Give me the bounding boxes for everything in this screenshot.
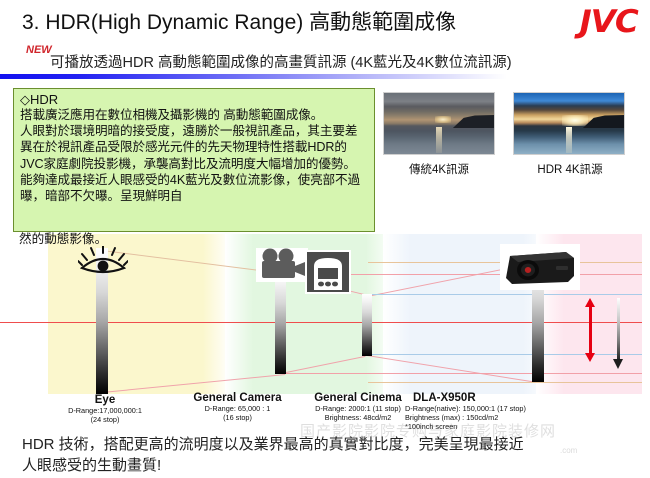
sun-highlight xyxy=(562,115,588,126)
cinema-screen-icon xyxy=(305,250,351,294)
water-glint xyxy=(436,127,442,153)
label-camera-detail-1: (16 stop) xyxy=(170,414,305,423)
slide-root: 3. HDR(High Dynamic Range) 高動態範圍成像 JVC N… xyxy=(0,0,650,478)
label-general-camera: General Camera D-Range: 65,000 : 1 (16 s… xyxy=(170,392,305,423)
footer-line-2: 人眼感受的生動畫質! xyxy=(22,455,622,476)
dynamic-range-diagram xyxy=(0,234,650,394)
reference-line xyxy=(280,373,642,374)
sample-caption-traditional: 傳統4K訊源 xyxy=(369,161,509,177)
sample-image-traditional xyxy=(383,92,495,155)
label-eye-detail-1: (24 stop) xyxy=(40,416,170,425)
label-dla-detail-2: *100inch screen xyxy=(405,423,565,432)
video-camera-icon xyxy=(256,248,308,282)
page-title: 3. HDR(High Dynamic Range) 高動態範圍成像 xyxy=(22,6,456,36)
footer-line-1: HDR 技術，搭配更高的流明度以及業界最高的真實對比度，完美呈現最接近 xyxy=(22,434,622,455)
sun-highlight xyxy=(435,116,451,123)
hdr-description-box: ◇HDR 搭載廣泛應用在數位相機及攝影機的 高動態範圍成像。 人眼對於環境明暗的… xyxy=(13,88,375,232)
label-eye: Eye D-Range:17,000,000:1 (24 stop) xyxy=(40,394,170,425)
page-subtitle: 可播放透過HDR 高動態範圍成像的高畫質訊源 (4K藍光及4K數位流訊源) xyxy=(50,51,512,72)
reference-line xyxy=(368,382,642,383)
panel-fade xyxy=(383,234,411,394)
new-badge: NEW xyxy=(26,44,52,56)
jvc-logo: JVC xyxy=(579,4,637,40)
sample-image-hdr xyxy=(513,92,625,155)
footer-text: HDR 技術，搭配更高的流明度以及業界最高的真實對比度，完美呈現最接近 人眼感受… xyxy=(22,434,622,476)
reference-line xyxy=(368,354,642,355)
red-dynamic-range-arrow xyxy=(589,306,592,354)
water-glint xyxy=(566,127,572,153)
hdr-overflow-line: 然的動態影像。 xyxy=(19,231,107,247)
hdr-heading: ◇HDR xyxy=(20,92,368,107)
range-bar-cinema xyxy=(362,294,372,356)
panel-fade xyxy=(225,234,253,394)
eye-icon xyxy=(78,246,128,276)
range-bar-camera xyxy=(275,272,286,374)
hdr-paragraph-1: 搭載廣泛應用在數位相機及攝影機的 高動態範圍成像。 xyxy=(20,107,368,123)
projector-icon xyxy=(500,244,580,290)
hdr-paragraph-2: 人眼對於環境明暗的接受度，遠勝於一般視訊產品，其主要差異在於視訊產品受限於感光元… xyxy=(20,123,368,204)
reference-line xyxy=(368,294,642,295)
panel-eye xyxy=(48,234,210,394)
gray-gradient-arrow xyxy=(617,298,620,360)
header-divider-bar xyxy=(0,74,650,79)
sample-caption-hdr: HDR 4K訊源 xyxy=(500,161,640,177)
label-dla-x950r: DLA-X950R D-Range(native): 150,000:1 (17… xyxy=(405,392,565,431)
